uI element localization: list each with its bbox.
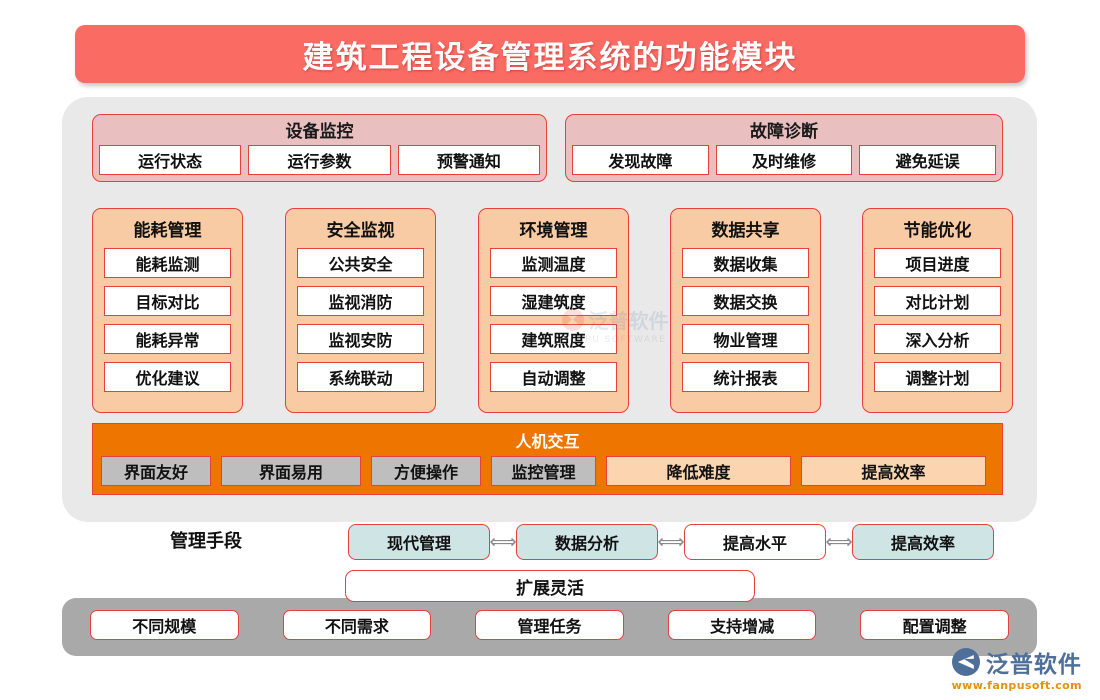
double-arrow-icon: ⟺	[490, 533, 516, 552]
means-item[interactable]: 数据分析	[516, 524, 658, 560]
logo-name: 泛普软件	[986, 645, 1082, 679]
double-arrow-icon: ⟺	[826, 533, 852, 552]
column-items: 监测温度 湿建筑度 建筑照度 自动调整	[490, 248, 617, 392]
bottom-bar-item[interactable]: 配置调整	[860, 610, 1009, 640]
company-logo: 泛普软件 www.fanpusoft.com	[952, 645, 1082, 692]
means-item[interactable]: 提高水平	[684, 524, 826, 560]
section-item[interactable]: 运行状态	[99, 145, 241, 175]
bottom-bar-item[interactable]: 不同规模	[90, 610, 239, 640]
column-item[interactable]: 能耗异常	[104, 324, 231, 354]
hci-title: 人机交互	[93, 428, 1002, 452]
column-item[interactable]: 统计报表	[682, 362, 809, 392]
hci-item[interactable]: 方便操作	[371, 456, 481, 486]
bottom-bar-item[interactable]: 支持增减	[668, 610, 817, 640]
column-title: 环境管理	[479, 216, 628, 241]
column-title: 节能优化	[863, 216, 1012, 241]
column-item[interactable]: 公共安全	[297, 248, 424, 278]
page-title: 建筑工程设备管理系统的功能模块	[303, 32, 798, 77]
module-column-data-sharing: 数据共享 数据收集 数据交换 物业管理 统计报表	[670, 208, 821, 413]
column-item[interactable]: 监视安防	[297, 324, 424, 354]
section-item[interactable]: 预警通知	[398, 145, 540, 175]
hci-bar: 人机交互 界面友好界面易用方便操作监控管理降低难度提高效率	[92, 423, 1003, 495]
column-item[interactable]: 目标对比	[104, 286, 231, 316]
section-item[interactable]: 运行参数	[248, 145, 390, 175]
bottom-bar-item[interactable]: 管理任务	[475, 610, 624, 640]
column-item[interactable]: 监视消防	[297, 286, 424, 316]
column-item[interactable]: 数据交换	[682, 286, 809, 316]
means-item[interactable]: 现代管理	[348, 524, 490, 560]
column-items: 数据收集 数据交换 物业管理 统计报表	[682, 248, 809, 392]
column-item[interactable]: 湿建筑度	[490, 286, 617, 316]
section-items: 运行状态 运行参数 预警通知	[99, 145, 540, 175]
hci-item[interactable]: 监控管理	[491, 456, 596, 486]
double-arrow-icon: ⟺	[658, 533, 684, 552]
logo-url: www.fanpusoft.com	[952, 679, 1082, 692]
module-column-safety: 安全监视 公共安全 监视消防 监视安防 系统联动	[285, 208, 436, 413]
column-item[interactable]: 对比计划	[874, 286, 1001, 316]
logo-arrow-icon	[952, 648, 980, 676]
section-items: 发现故障 及时维修 避免延误	[572, 145, 996, 175]
section-title: 故障诊断	[566, 117, 1002, 142]
bottom-bar-item[interactable]: 不同需求	[283, 610, 432, 640]
column-title: 安全监视	[286, 216, 435, 241]
column-title: 能耗管理	[93, 216, 242, 241]
column-item[interactable]: 能耗监测	[104, 248, 231, 278]
bottom-bar-items: 不同规模 不同需求 管理任务 支持增减 配置调整	[90, 610, 1009, 640]
means-item[interactable]: 提高效率	[852, 524, 994, 560]
hci-item[interactable]: 提高效率	[801, 456, 986, 486]
section-item[interactable]: 发现故障	[572, 145, 709, 175]
hci-items: 界面友好界面易用方便操作监控管理降低难度提高效率	[101, 456, 994, 486]
column-item[interactable]: 深入分析	[874, 324, 1001, 354]
column-item[interactable]: 自动调整	[490, 362, 617, 392]
column-items: 公共安全 监视消防 监视安防 系统联动	[297, 248, 424, 392]
flexible-expansion-box[interactable]: 扩展灵活	[345, 570, 755, 602]
column-items: 能耗监测 目标对比 能耗异常 优化建议	[104, 248, 231, 392]
section-item[interactable]: 避免延误	[859, 145, 996, 175]
means-row: 现代管理⟺数据分析⟺提高水平⟺提高效率	[348, 522, 1003, 562]
page-title-bar: 建筑工程设备管理系统的功能模块	[75, 25, 1025, 83]
section-item[interactable]: 及时维修	[716, 145, 853, 175]
bottom-gray-bar: 不同规模 不同需求 管理任务 支持增减 配置调整	[62, 598, 1037, 656]
module-column-environment: 环境管理 监测温度 湿建筑度 建筑照度 自动调整	[478, 208, 629, 413]
column-item[interactable]: 优化建议	[104, 362, 231, 392]
module-column-energy: 能耗管理 能耗监测 目标对比 能耗异常 优化建议	[92, 208, 243, 413]
column-item[interactable]: 调整计划	[874, 362, 1001, 392]
hci-item[interactable]: 界面易用	[221, 456, 361, 486]
column-items: 项目进度 对比计划 深入分析 调整计划	[874, 248, 1001, 392]
section-title: 设备监控	[93, 117, 546, 142]
means-label: 管理手段	[170, 527, 242, 553]
column-item[interactable]: 系统联动	[297, 362, 424, 392]
column-item[interactable]: 数据收集	[682, 248, 809, 278]
section-equipment-monitoring: 设备监控 运行状态 运行参数 预警通知	[92, 114, 547, 182]
column-item[interactable]: 物业管理	[682, 324, 809, 354]
section-fault-diagnosis: 故障诊断 发现故障 及时维修 避免延误	[565, 114, 1003, 182]
hci-item[interactable]: 界面友好	[101, 456, 211, 486]
column-item[interactable]: 监测温度	[490, 248, 617, 278]
column-item[interactable]: 建筑照度	[490, 324, 617, 354]
column-title: 数据共享	[671, 216, 820, 241]
module-column-energy-saving: 节能优化 项目进度 对比计划 深入分析 调整计划	[862, 208, 1013, 413]
hci-item[interactable]: 降低难度	[606, 456, 791, 486]
column-item[interactable]: 项目进度	[874, 248, 1001, 278]
